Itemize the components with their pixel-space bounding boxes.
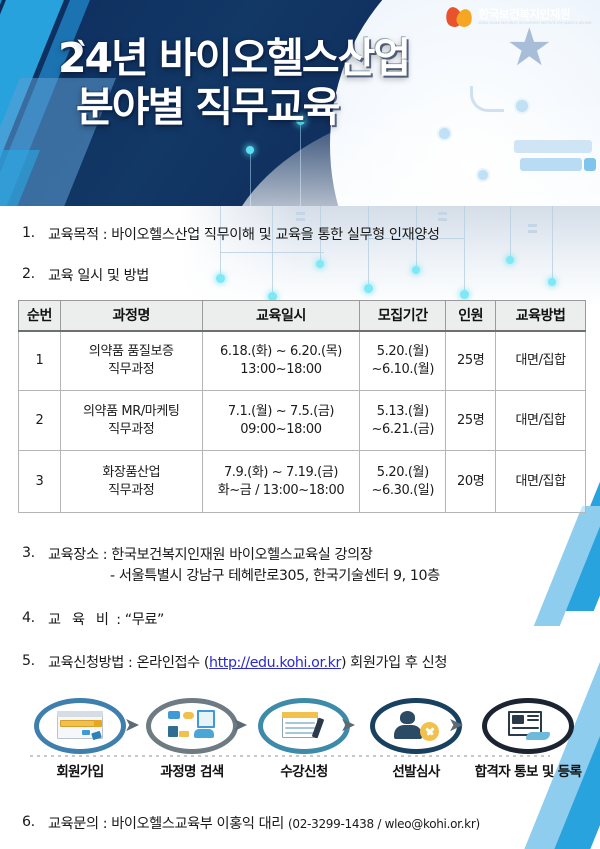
cell-capacity: 25명 (446, 391, 496, 451)
location-line2: - 서울특별시 강남구 테헤란로305, 한국기술센터 9, 10층 (48, 566, 592, 587)
signup-form-icon (54, 709, 106, 743)
title-line-1: 24년 바이오헬스산업 (58, 38, 409, 79)
selection-review-icon (390, 709, 442, 743)
course-name-line2: 직무과정 (108, 483, 154, 498)
flow-step-enroll: 수강신청 (252, 698, 356, 780)
datetime-line2: 화~금 / 13:00~18:00 (218, 483, 344, 498)
list-item-purpose: 1. 교육목적 : 바이오헬스산업 직무이해 및 교육을 통한 실무형 인재양성 (22, 225, 582, 246)
recruit-line2: ~6.30.(일) (372, 483, 434, 498)
flow-arrow-icon: ➤ (448, 718, 468, 732)
table-row: 1 의약품 품질보증 직무과정 6.18.(화) ~ 6.20.(목) 13:0… (19, 331, 586, 391)
datetime-line1: 7.1.(월) ~ 7.5.(금) (228, 404, 334, 419)
course-schedule-table-wrapper: 순번 과정명 교육일시 모집기간 인원 교육방법 1 의약품 품질보증 직무과정 (18, 300, 586, 513)
content-area: 1. 교육목적 : 바이오헬스산업 직무이해 및 교육을 통한 실무형 인재양성… (0, 206, 600, 849)
item-text: 교육 일시 및 방법 (48, 266, 582, 287)
course-name-line1: 의약품 품질보증 (89, 344, 174, 359)
item-number: 1. (22, 225, 48, 241)
flow-ring-2 (146, 698, 238, 754)
flow-label-enroll: 수강신청 (280, 760, 327, 780)
inquiry-contact: (02-3299-1438 / wleo@kohi.or.kr) (288, 817, 480, 831)
recruit-line2: ~6.21.(금) (372, 422, 434, 437)
application-prefix: 교육신청방법 : 온라인접수 ( (48, 655, 209, 671)
course-name-line2: 직무과정 (108, 422, 154, 437)
list-item-inquiry: 6. 교육문의 : 바이오헬스교육부 이홍익 대리 (02-3299-1438 … (22, 814, 597, 835)
cell-capacity: 25명 (446, 331, 496, 391)
datetime-line2: 13:00~18:00 (240, 362, 321, 377)
column-header-datetime: 교육일시 (202, 301, 360, 331)
cell-course: 화장품산업 직무과정 (60, 451, 202, 513)
fee-label: 교 육 비 (48, 612, 112, 628)
item-number: 4. (22, 610, 48, 626)
column-header-recruit: 모집기간 (360, 301, 446, 331)
pill-decoration (520, 158, 582, 171)
table-row: 3 화장품산업 직무과정 7.9.(화) ~ 7.19.(금) 화~금 / 13… (19, 451, 586, 513)
flow-step-signup: 회원가입 (28, 698, 132, 780)
course-name-line2: 직무과정 (108, 362, 154, 377)
location-line1: 교육장소 : 한국보건복지인재원 바이오헬스교육실 강의장 (48, 547, 372, 563)
item-number: 3. (22, 545, 48, 561)
pill-decoration (584, 158, 596, 171)
table-row: 2 의약품 MR/마케팅 직무과정 7.1.(월) ~ 7.5.(금) 09:0… (19, 391, 586, 451)
course-name-line1: 의약품 MR/마케팅 (83, 404, 180, 419)
course-schedule-table: 순번 과정명 교육일시 모집기간 인원 교육방법 1 의약품 품질보증 직무과정 (18, 300, 586, 513)
flow-arrow-icon: ➤ (232, 718, 252, 732)
flow-step-search: 과정명 검색 (140, 698, 244, 780)
notice-document-icon (502, 709, 554, 743)
flow-step-selection: 선발심사 (364, 698, 468, 780)
cell-recruit: 5.13.(월) ~6.21.(금) (360, 391, 446, 451)
flow-arrow-icon: ➤ (124, 718, 144, 732)
application-suffix: ) 회원가입 후 신청 (341, 655, 447, 671)
list-item-schedule-heading: 2. 교육 일시 및 방법 (22, 266, 582, 287)
title-line-2: 분야별 직무교육 (76, 87, 409, 128)
flow-ring-1 (34, 698, 126, 754)
header-banner: 한국보건복지인재원 KOREA HUMAN RESOURCES DEVELOPM… (0, 0, 600, 206)
cell-datetime: 7.1.(월) ~ 7.5.(금) 09:00~18:00 (202, 391, 360, 451)
table-header-row: 순번 과정명 교육일시 모집기간 인원 교육방법 (19, 301, 586, 331)
node-circle-decoration (514, 98, 530, 114)
column-header-method: 교육방법 (496, 301, 586, 331)
cell-no: 1 (19, 331, 61, 391)
list-item-fee: 4. 교 육 비 : “무료” (22, 610, 582, 631)
flow-label-signup: 회원가입 (56, 760, 103, 780)
cell-recruit: 5.20.(월) ~6.10.(월) (360, 331, 446, 391)
flow-ring-3 (258, 698, 350, 754)
fee-value: : “무료” (112, 612, 164, 628)
cell-course: 의약품 품질보증 직무과정 (60, 331, 202, 391)
recruit-line1: 5.13.(월) (377, 404, 429, 419)
cell-recruit: 5.20.(월) ~6.30.(일) (360, 451, 446, 513)
item-text: 교육목적 : 바이오헬스산업 직무이해 및 교육을 통한 실무형 인재양성 (48, 225, 582, 246)
cell-capacity: 20명 (446, 451, 496, 513)
datetime-line1: 6.18.(화) ~ 6.20.(목) (220, 344, 342, 359)
application-process-flow: 회원가입 과정명 검색 (28, 698, 580, 780)
recruit-line2: ~6.10.(월) (372, 362, 434, 377)
column-header-no: 순번 (19, 301, 61, 331)
flow-ring-5 (482, 698, 574, 754)
page-title: ` 24년 바이오헬스산업 분야별 직무교육 (58, 38, 409, 128)
cell-no: 2 (19, 391, 61, 451)
circuit-node (246, 146, 254, 154)
node-circle-decoration (437, 126, 452, 141)
logo-droplet-icon (446, 6, 474, 28)
column-header-capacity: 인원 (446, 301, 496, 331)
datetime-line2: 09:00~18:00 (240, 422, 321, 437)
item-number: 2. (22, 266, 48, 282)
flow-step-notice: 합격자 통보 및 등록 (476, 698, 580, 780)
enrollment-form-icon (278, 709, 330, 743)
item-number: 5. (22, 653, 48, 669)
cell-method: 대면/집합 (496, 451, 586, 513)
list-item-location: 3. 교육장소 : 한국보건복지인재원 바이오헬스교육실 강의장 - 서울특별시… (22, 545, 592, 586)
cell-course: 의약품 MR/마케팅 직무과정 (60, 391, 202, 451)
flow-arrow-icon: ➤ (340, 718, 360, 732)
logo-name-english: KOREA HUMAN RESOURCES DEVELOPMENT INSTIT… (479, 22, 592, 25)
cell-method: 대면/집합 (496, 331, 586, 391)
flow-label-selection: 선발심사 (392, 760, 439, 780)
circuit-background-band (180, 206, 600, 306)
recruit-line1: 5.20.(월) (377, 344, 429, 359)
node-circle-decoration (476, 168, 490, 182)
pill-decoration (514, 140, 592, 153)
logo-name-korean: 한국보건복지인재원 (479, 9, 592, 21)
column-header-course: 과정명 (60, 301, 202, 331)
cell-datetime: 7.9.(화) ~ 7.19.(금) 화~금 / 13:00~18:00 (202, 451, 360, 513)
organization-logo: 한국보건복지인재원 KOREA HUMAN RESOURCES DEVELOPM… (446, 6, 592, 28)
flow-label-search: 과정명 검색 (160, 760, 223, 780)
course-search-icon (166, 709, 218, 743)
application-url-link[interactable]: http://edu.kohi.or.kr (209, 655, 341, 671)
item-number: 6. (22, 814, 48, 830)
cell-no: 3 (19, 451, 61, 513)
inquiry-text: 교육문의 : 바이오헬스교육부 이홍익 대리 (48, 816, 284, 832)
datetime-line1: 7.9.(화) ~ 7.19.(금) (224, 465, 338, 480)
recruit-line1: 5.20.(월) (377, 465, 429, 480)
list-item-application: 5. 교육신청방법 : 온라인접수 (http://edu.kohi.or.kr… (22, 653, 592, 674)
course-name-line1: 화장품산업 (102, 465, 160, 480)
cell-datetime: 6.18.(화) ~ 6.20.(목) 13:00~18:00 (202, 331, 360, 391)
flow-label-notice: 합격자 통보 및 등록 (475, 760, 582, 780)
cell-method: 대면/집합 (496, 391, 586, 451)
